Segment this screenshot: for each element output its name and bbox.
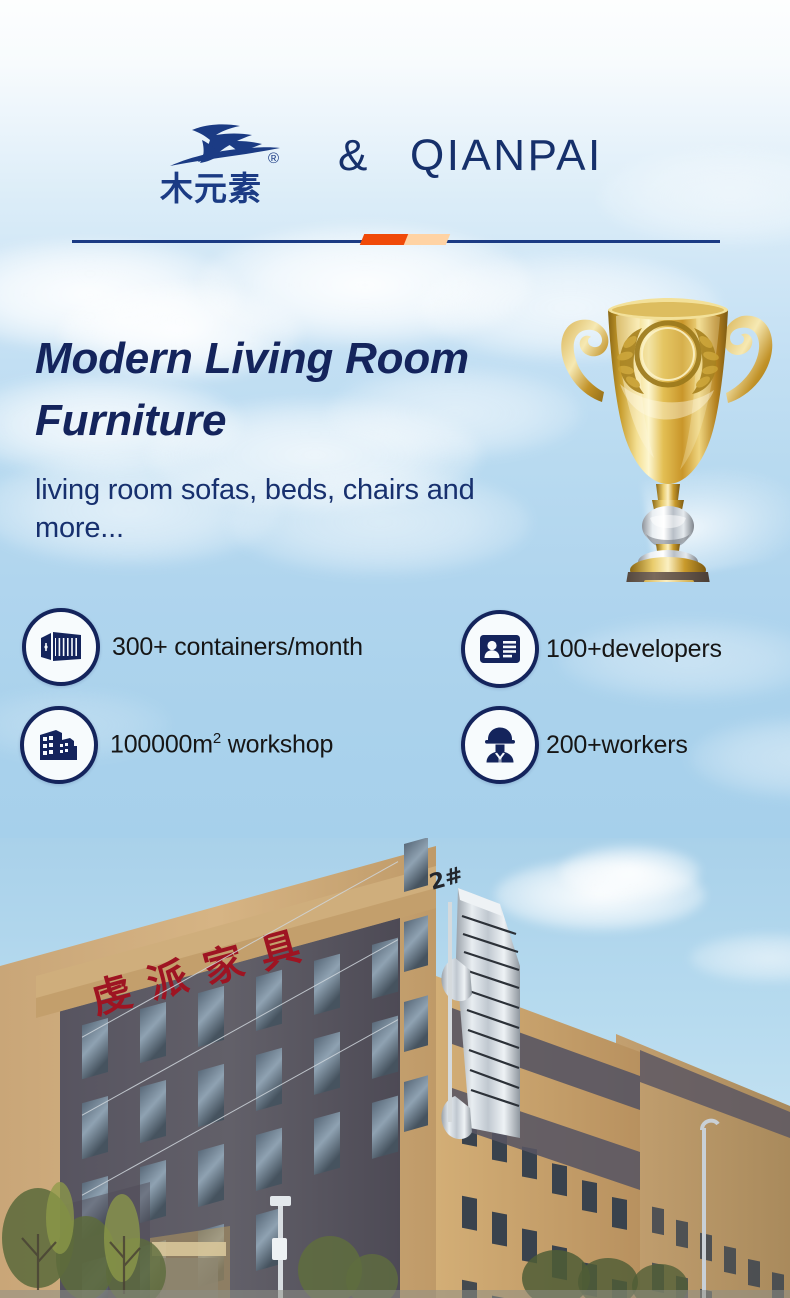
stat-label-workshop: 100000m2 workshop [110,730,333,759]
factory-building-photo: 虔 派 家 具 [0,838,790,1298]
page-title: Modern Living Room Furniture [35,328,575,451]
badge-icon-wrap [22,608,100,686]
stat-developers[interactable]: 100+developers [461,610,722,688]
stat-label-developers: 100+developers [546,635,722,664]
shipping-container-icon [37,627,85,667]
stats-badges: 300+ containers/month [0,598,790,803]
gold-trophy-icon [546,272,790,582]
divider-accent-peach [404,234,450,245]
badge-icon-wrap [461,706,539,784]
banner-header: 木元素 ® & QIANPAI [0,0,790,262]
page-subtitle: living room sofas, beds, chairs and more… [35,472,505,547]
stat-containers[interactable]: 300+ containers/month [22,608,363,686]
stat-label-workers: 200+workers [546,731,688,760]
stat-workshop[interactable]: 100000m2 workshop [20,706,333,784]
promo-banner: 木元素 ® & QIANPAI Modern Living Room Furni… [0,0,790,1298]
logo-chinese-text: 木元素 [160,172,262,205]
company-logo[interactable]: 木元素 [158,120,310,218]
id-card-icon [477,631,523,667]
hard-hat-worker-icon [479,724,521,766]
badge-icon-wrap [20,706,98,784]
brand-ampersand: & [338,134,367,178]
brand-name: QIANPAI [410,134,603,178]
stat-workers[interactable]: 200+workers [461,706,688,784]
building-illustration: 虔 派 家 具 [0,838,790,1298]
factory-buildings-icon [36,724,82,766]
registered-trademark-icon: ® [268,150,279,167]
stat-label-containers: 300+ containers/month [112,633,363,662]
badge-icon-wrap [461,610,539,688]
